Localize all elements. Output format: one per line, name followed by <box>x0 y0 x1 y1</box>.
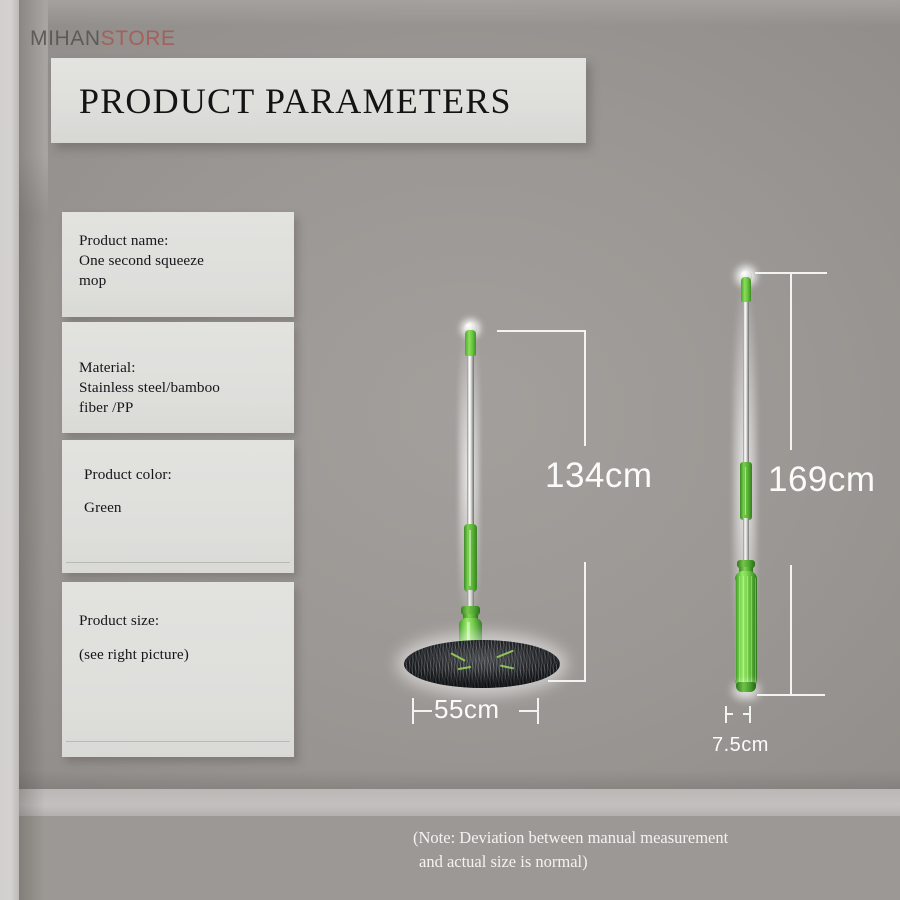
spec-label: Product color: <box>79 465 294 485</box>
mop-mid-grip <box>464 524 477 592</box>
spec-card-material: Material: Stainless steel/bamboo fiber /… <box>62 322 294 433</box>
product-image-extended-pole <box>716 268 776 698</box>
dim-line-upper-169 <box>790 272 792 450</box>
mop-head-disc <box>404 640 560 688</box>
brand-logo: MIHANSTORE <box>30 27 176 51</box>
mop-pole-upper <box>467 354 474 529</box>
dim-tick-bottom-169 <box>757 694 825 696</box>
spec-value-line-1: (see right picture) <box>79 645 294 665</box>
dim-tick-right-55 <box>537 698 539 724</box>
spec-value-line-1: One second squeeze <box>79 251 294 271</box>
spec-card-product-size: Product size: (see right picture) <box>62 582 294 757</box>
spec-label: Product size: <box>79 611 294 631</box>
dim-arm-left-75 <box>725 713 733 715</box>
pole-handle-end-cap <box>736 682 756 692</box>
background-band-shadow <box>0 770 900 790</box>
measurement-note-line-1: (Note: Deviation between manual measurem… <box>413 826 883 850</box>
pole-handle-ribs <box>735 576 757 684</box>
pole-mid-grip-highlight <box>745 467 747 515</box>
card-divider <box>66 562 290 563</box>
page-title: PRODUCT PARAMETERS <box>51 80 512 122</box>
background-top-sheen <box>26 0 900 26</box>
spec-value-line-2: fiber /PP <box>79 398 294 418</box>
dim-tick-top-134 <box>497 330 585 332</box>
spec-value-line-2: mop <box>79 271 294 291</box>
product-parameters-infographic: MIHANSTORE PRODUCT PARAMETERS Product na… <box>0 0 900 900</box>
dim-line-lower-169 <box>790 565 792 695</box>
dim-tick-right-75 <box>749 706 751 723</box>
dim-arm-right-55 <box>519 710 539 712</box>
pole-mid-grip <box>740 462 752 520</box>
background-left-strip <box>0 0 19 900</box>
dim-line-lower-134 <box>584 562 586 681</box>
spec-label: Material: <box>79 358 294 378</box>
background-bottom-band <box>0 789 900 816</box>
dim-tick-bottom-134 <box>548 680 586 682</box>
mop-mid-grip-highlight <box>469 530 471 586</box>
product-image-assembled-mop <box>400 318 570 690</box>
dimension-label-55cm: 55cm <box>434 694 500 725</box>
measurement-note-line-2: and actual size is normal) <box>413 850 883 874</box>
spec-label: Product name: <box>79 231 294 251</box>
measurement-note: (Note: Deviation between manual measurem… <box>413 826 883 874</box>
spec-value-line-1: Green <box>79 498 294 518</box>
brand-logo-primary: MIHAN <box>30 27 101 50</box>
title-banner: PRODUCT PARAMETERS <box>51 58 586 143</box>
pole-lower-section <box>743 518 749 566</box>
card-divider <box>66 741 290 742</box>
pole-upper-section <box>743 300 749 468</box>
dimension-label-169cm: 169cm <box>768 460 876 500</box>
pole-tip-green <box>741 277 751 302</box>
spec-card-product-name: Product name: One second squeeze mop <box>62 212 294 317</box>
background-left-shadow <box>19 0 45 900</box>
dimension-label-7-5cm: 7.5cm <box>712 734 769 757</box>
spec-value-line-1: Stainless steel/bamboo <box>79 378 294 398</box>
mop-head-shadow <box>404 670 560 688</box>
mop-tip-green <box>465 330 476 356</box>
dim-arm-left-55 <box>412 710 432 712</box>
brand-logo-secondary: STORE <box>101 27 176 50</box>
spec-card-product-color: Product color: Green <box>62 440 294 573</box>
dimension-label-134cm: 134cm <box>545 456 653 496</box>
dim-line-upper-134 <box>584 330 586 446</box>
